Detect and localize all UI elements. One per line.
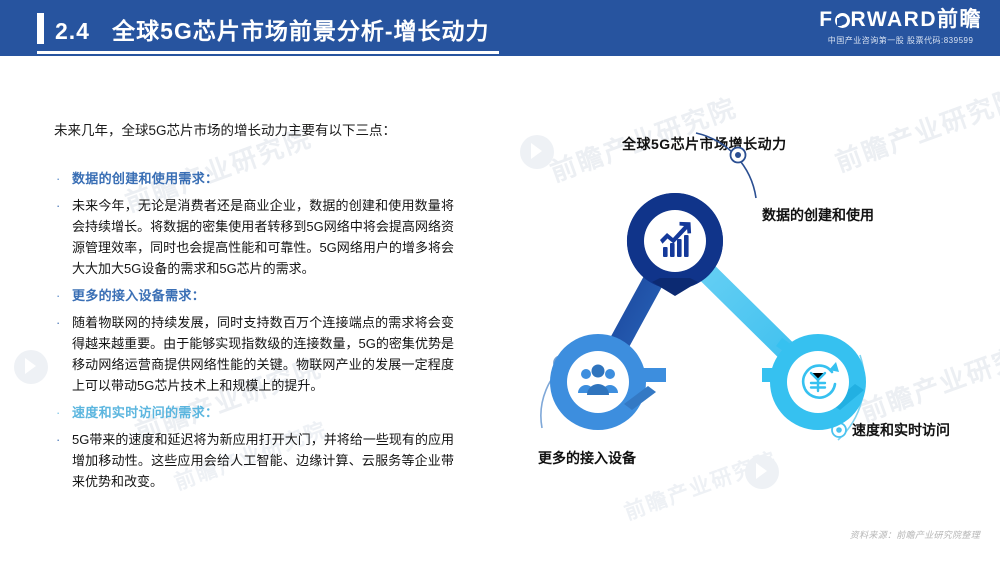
block-heading-row: · 更多的接入设备需求： bbox=[54, 285, 454, 306]
header-underline bbox=[37, 51, 499, 54]
slide-canvas: 前瞻产业研究院 前瞻产业研究院 前瞻产业研究院 前瞻产业研究院 前瞻产业研究院 … bbox=[0, 0, 1000, 563]
diagram-node-devices[interactable] bbox=[550, 334, 666, 430]
page-title: 2.4 全球5G芯片市场前景分析-增长动力 bbox=[55, 12, 490, 46]
block-body: 随着物联网的持续发展，同时支持数百万个连接端点的需求将会变得越来越重要。由于能够… bbox=[72, 312, 454, 396]
growth-drivers-diagram: 全球5G芯片市场增长动力 bbox=[500, 110, 1000, 510]
brand-logo-name: FRWARD前瞻 bbox=[819, 8, 982, 31]
brand-logo-o-icon bbox=[835, 13, 850, 28]
block-heading: 数据的创建和使用需求： bbox=[72, 168, 218, 189]
diagram-label-speed: 速度和实时访问 bbox=[852, 420, 950, 440]
page-title-number: 2.4 bbox=[55, 18, 90, 44]
block-body: 5G带来的速度和延迟将为新应用打开大门，并将给一些现有的应用增加移动性。这些应用… bbox=[72, 429, 454, 492]
block-body-row: · 未来今年，无论是消费者还是商业企业，数据的创建和使用数量将会持续增长。将数据… bbox=[54, 195, 454, 279]
bullet-glyph: · bbox=[54, 168, 72, 189]
lead-paragraph: 未来几年，全球5G芯片市场的增长动力主要有以下三点： bbox=[54, 120, 454, 142]
source-note: 资料来源：前瞻产业研究院整理 bbox=[850, 528, 980, 541]
brand-logo: FRWARD前瞻 中国产业咨询第一股 股票代码:839599 bbox=[819, 8, 982, 46]
block-heading-row: · 数据的创建和使用需求： bbox=[54, 168, 454, 189]
brand-logo-f: F bbox=[819, 8, 833, 31]
diagram-label-data: 数据的创建和使用 bbox=[762, 205, 874, 225]
bullet-glyph: · bbox=[54, 195, 72, 216]
brand-logo-subtitle: 中国产业咨询第一股 股票代码:839599 bbox=[819, 35, 982, 46]
watermark-logo-icon bbox=[14, 350, 48, 384]
block-heading: 速度和实时访问的需求： bbox=[72, 402, 218, 423]
brand-logo-rest: RWARD前瞻 bbox=[851, 8, 982, 31]
content-block: · 速度和实时访问的需求： · 5G带来的速度和延迟将为新应用打开大门，并将给一… bbox=[54, 402, 454, 492]
block-body-row: · 随着物联网的持续发展，同时支持数百万个连接端点的需求将会变得越来越重要。由于… bbox=[54, 312, 454, 396]
bullet-glyph: · bbox=[54, 285, 72, 306]
page-header: 2.4 全球5G芯片市场前景分析-增长动力 FRWARD前瞻 中国产业咨询第一股… bbox=[0, 0, 1000, 56]
page-title-text: 全球5G芯片市场前景分析-增长动力 bbox=[112, 18, 489, 44]
block-heading: 更多的接入设备需求： bbox=[72, 285, 205, 306]
bullet-glyph: · bbox=[54, 312, 72, 333]
content-block: · 更多的接入设备需求： · 随着物联网的持续发展，同时支持数百万个连接端点的需… bbox=[54, 285, 454, 396]
diagram-label-devices: 更多的接入设备 bbox=[538, 448, 636, 468]
block-body: 未来今年，无论是消费者还是商业企业，数据的创建和使用数量将会持续增长。将数据的密… bbox=[72, 195, 454, 279]
block-body-row: · 5G带来的速度和延迟将为新应用打开大门，并将给一些现有的应用增加移动性。这些… bbox=[54, 429, 454, 492]
yen-symbol-icon bbox=[811, 373, 825, 391]
content-column: 未来几年，全球5G芯片市场的增长动力主要有以下三点： · 数据的创建和使用需求：… bbox=[54, 120, 454, 498]
content-block: · 数据的创建和使用需求： · 未来今年，无论是消费者还是商业企业，数据的创建和… bbox=[54, 168, 454, 279]
header-accent-bar bbox=[37, 13, 44, 44]
block-heading-row: · 速度和实时访问的需求： bbox=[54, 402, 454, 423]
bullet-glyph: · bbox=[54, 429, 72, 450]
bullet-glyph: · bbox=[54, 402, 72, 423]
